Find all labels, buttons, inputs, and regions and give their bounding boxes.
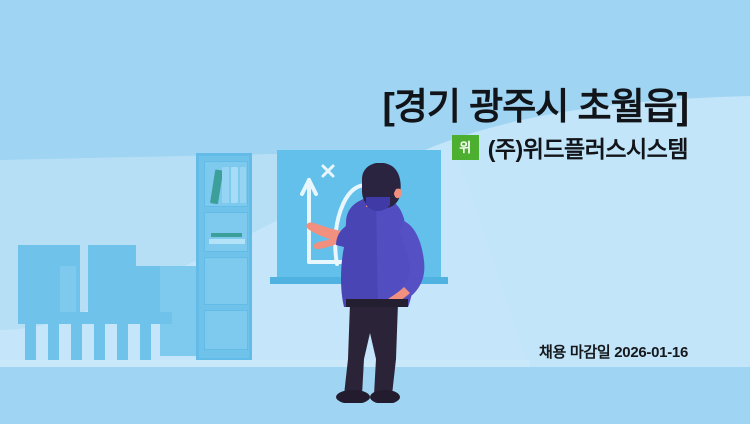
sideboard-leg <box>71 316 82 364</box>
book <box>231 167 238 203</box>
shoe-left <box>336 390 370 403</box>
book <box>222 167 229 203</box>
company-badge-icon: 위 <box>452 135 479 160</box>
job-posting-poster: [경기 광주시 초월읍] 위 (주)위드플러스시스템 채용 마감일 2026-0… <box>0 0 750 424</box>
sideboard-leg <box>25 316 36 364</box>
stacked-book <box>211 233 242 237</box>
sideboard-leg <box>94 316 105 364</box>
bookshelf-shelf-third <box>204 257 248 305</box>
trousers <box>344 303 398 395</box>
sideboard-divider <box>60 266 76 317</box>
page-title: [경기 광주시 초월읍] <box>382 76 688 130</box>
sideboard-leg <box>48 316 59 364</box>
application-deadline: 채용 마감일 2026-01-16 <box>539 341 688 362</box>
businessman-illustration <box>300 163 460 403</box>
belt <box>346 299 408 307</box>
bookshelf-shelf-second <box>204 212 248 252</box>
bookshelf-shelf-top <box>204 161 248 207</box>
bookshelf-shelf-bottom <box>204 310 248 350</box>
book <box>240 167 246 203</box>
stacked-book <box>209 239 245 244</box>
company-line: 위 (주)위드플러스시스템 <box>452 130 688 164</box>
sideboard-leg <box>117 316 128 364</box>
sideboard-leg <box>140 316 151 364</box>
bookshelf-cabinet <box>196 153 252 361</box>
company-name: (주)위드플러스시스템 <box>488 130 688 164</box>
